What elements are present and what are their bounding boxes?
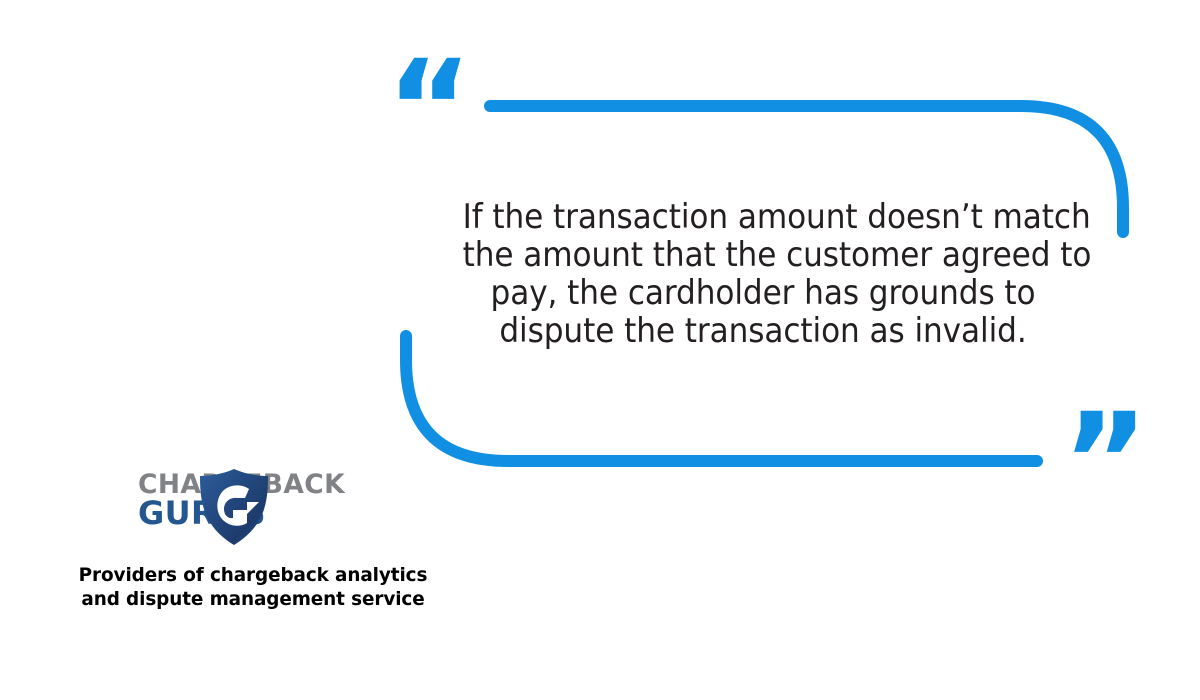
quote-text-block: If the transaction amount doesn’t match … <box>463 198 1064 350</box>
chargeback-gurus-shield-icon <box>197 468 271 546</box>
quote-line-1: If the transaction amount doesn’t match <box>463 198 1064 236</box>
opening-quotation-mark: “ <box>386 43 473 175</box>
logo-row: CHARGEBACK GURUS <box>68 466 438 534</box>
quote-line-3: pay, the cardholder has grounds to <box>463 274 1064 312</box>
tagline-line-2: and dispute management service <box>68 588 438 612</box>
quote-card: “ ” If the transaction amount doesn’t ma… <box>0 0 1200 700</box>
brand-tagline: Providers of chargeback analytics and di… <box>68 564 438 612</box>
quote-line-4: dispute the transaction as invalid. <box>463 312 1064 350</box>
quote-line-2: the amount that the customer agreed to <box>463 236 1064 274</box>
brand-lockup: CHARGEBACK GURUS Providers of chargeback… <box>68 466 438 612</box>
tagline-line-1: Providers of chargeback analytics <box>68 564 438 588</box>
shield-body <box>200 469 268 545</box>
bottom-bracket-path <box>406 336 1037 461</box>
closing-quotation-mark: ” <box>1062 396 1149 528</box>
